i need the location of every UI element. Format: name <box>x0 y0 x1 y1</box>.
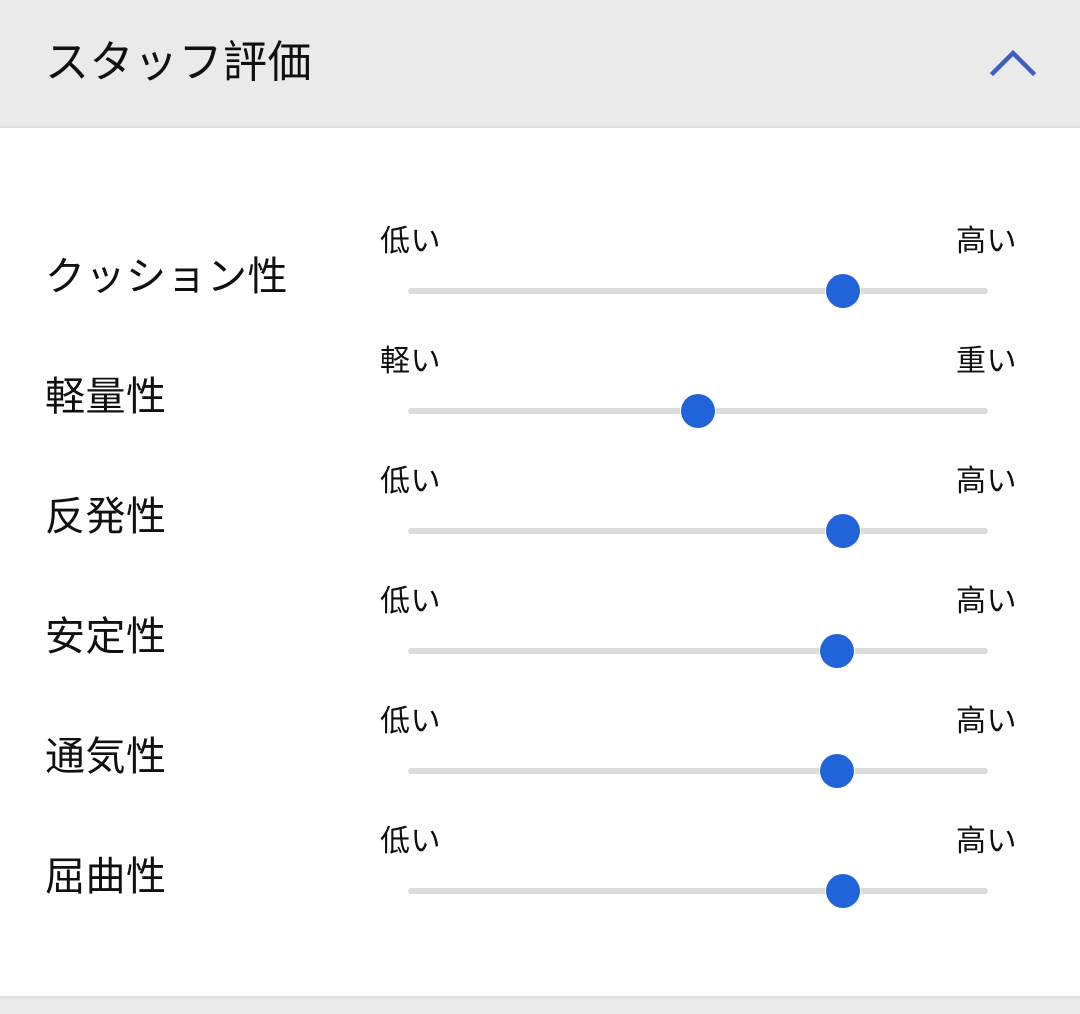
slider-area: 低い 高い <box>378 817 1020 937</box>
slider-max-label: 高い <box>956 465 1017 500</box>
slider-min-label: 低い <box>380 465 441 500</box>
ratings-list: クッション性 低い 高い 軽量性 軽い 重い 反発性 <box>0 128 1080 998</box>
rating-slider-flexibility[interactable] <box>408 871 988 911</box>
slider-min-label: 低い <box>380 225 441 260</box>
slider-max-label: 高い <box>956 585 1017 620</box>
slider-area: 低い 高い <box>378 577 1020 697</box>
slider-area: 低い 高い <box>378 457 1020 577</box>
slider-thumb[interactable] <box>826 874 860 908</box>
rating-label-cushioning: クッション性 <box>45 255 288 299</box>
collapse-section-button[interactable] <box>968 0 1058 126</box>
slider-min-label: 低い <box>380 705 441 740</box>
slider-area: 低い 高い <box>378 697 1020 817</box>
slider-area: 低い 高い <box>378 217 1020 337</box>
rating-slider-bounce[interactable] <box>408 511 988 551</box>
section-header: スタッフ評価 <box>0 0 1080 128</box>
rating-slider-cushioning[interactable] <box>408 271 988 311</box>
slider-track[interactable] <box>408 288 988 294</box>
slider-track[interactable] <box>408 648 988 654</box>
rating-label-breathability: 通気性 <box>45 735 167 779</box>
slider-min-label: 低い <box>380 825 441 860</box>
slider-thumb[interactable] <box>826 274 860 308</box>
slider-min-label: 低い <box>380 585 441 620</box>
staff-rating-panel: スタッフ評価 クッション性 低い 高い 軽量性 <box>0 0 1080 1014</box>
rating-label-flexibility: 屈曲性 <box>45 855 167 899</box>
slider-thumb[interactable] <box>826 514 860 548</box>
rating-label-stability: 安定性 <box>45 615 167 659</box>
slider-track[interactable] <box>408 768 988 774</box>
rating-label-bounce: 反発性 <box>45 495 167 539</box>
page-title: スタッフ評価 <box>45 40 312 86</box>
slider-max-label: 高い <box>956 225 1017 260</box>
slider-track[interactable] <box>408 888 988 894</box>
rating-row: 通気性 低い 高い <box>0 697 1080 817</box>
rating-row: 反発性 低い 高い <box>0 457 1080 577</box>
slider-max-label: 高い <box>956 825 1017 860</box>
slider-thumb[interactable] <box>820 634 854 668</box>
slider-max-label: 重い <box>956 345 1017 380</box>
slider-thumb[interactable] <box>681 394 715 428</box>
rating-slider-lightweight[interactable] <box>408 391 988 431</box>
rating-row: クッション性 低い 高い <box>0 217 1080 337</box>
rating-row: 軽量性 軽い 重い <box>0 337 1080 457</box>
rating-label-lightweight: 軽量性 <box>45 375 167 419</box>
slider-min-label: 軽い <box>380 345 441 380</box>
slider-max-label: 高い <box>956 705 1017 740</box>
rating-slider-breathability[interactable] <box>408 751 988 791</box>
slider-area: 軽い 重い <box>378 337 1020 457</box>
slider-thumb[interactable] <box>820 754 854 788</box>
slider-track[interactable] <box>408 528 988 534</box>
rating-row: 安定性 低い 高い <box>0 577 1080 697</box>
rating-row: 屈曲性 低い 高い <box>0 817 1080 937</box>
chevron-up-icon <box>990 49 1036 77</box>
next-section-header <box>0 998 1080 1014</box>
rating-slider-stability[interactable] <box>408 631 988 671</box>
